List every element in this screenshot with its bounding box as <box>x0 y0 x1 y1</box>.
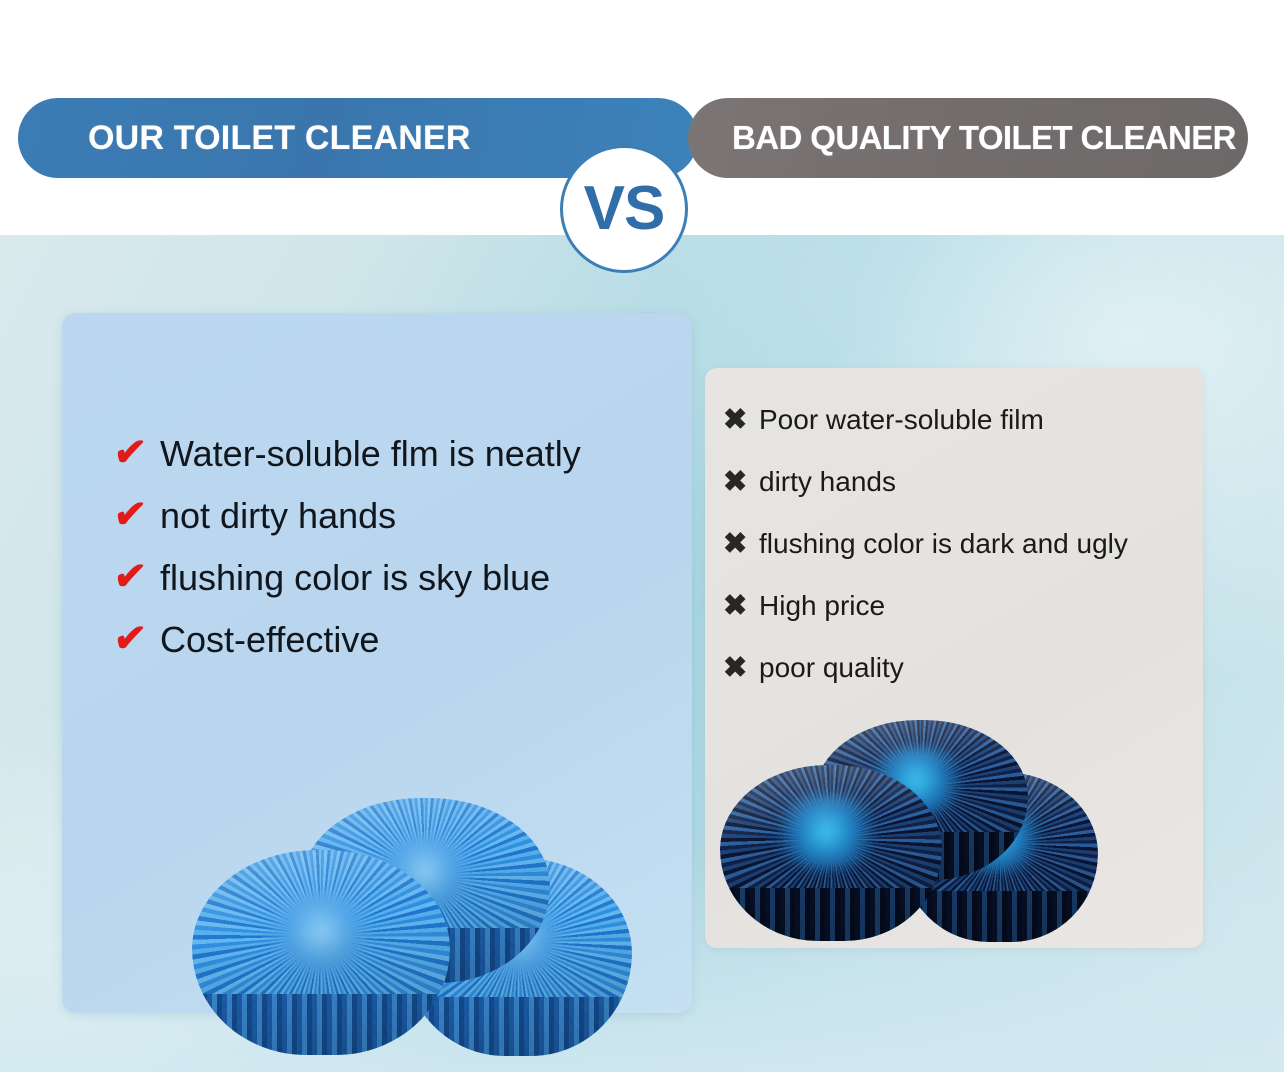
cross-icon: ✖ <box>723 462 759 502</box>
list-item: ✔ Cost-effective <box>114 617 674 679</box>
bad-feature-label: poor quality <box>759 648 904 688</box>
list-item: ✖ High price <box>723 586 1193 648</box>
bad-feature-label: Poor water-soluble film <box>759 400 1044 440</box>
bad-product-banner-label: BAD QUALITY TOILET CLEANER <box>732 119 1236 157</box>
check-icon: ✔ <box>112 431 163 475</box>
banner-row: OUR TOILET CLEANER BAD QUALITY TOILET CL… <box>18 98 1248 178</box>
header-banner: OUR TOILET CLEANER BAD QUALITY TOILET CL… <box>0 0 1284 235</box>
check-icon: ✔ <box>112 617 163 661</box>
vs-badge-label: VS <box>584 178 665 240</box>
list-item: ✖ poor quality <box>723 648 1193 710</box>
good-product-banner-label: OUR TOILET CLEANER <box>88 119 471 158</box>
good-feature-label: flushing color is sky blue <box>160 555 550 601</box>
list-item: ✔ Water-soluble flm is neatly <box>114 431 674 493</box>
list-item: ✖ Poor water-soluble film <box>723 400 1193 462</box>
check-icon: ✔ <box>112 555 163 599</box>
bad-product-image <box>720 720 1100 950</box>
bad-feature-label: flushing color is dark and ugly <box>759 524 1128 564</box>
cross-icon: ✖ <box>723 524 759 564</box>
good-feature-label: Water-soluble flm is neatly <box>160 431 581 477</box>
list-item: ✖ dirty hands <box>723 462 1193 524</box>
bad-product-panel: ✖ Poor water-soluble film ✖ dirty hands … <box>705 368 1203 948</box>
list-item: ✔ not dirty hands <box>114 493 674 555</box>
good-product-image <box>192 798 632 1068</box>
list-item: ✖ flushing color is dark and ugly <box>723 524 1193 586</box>
comparison-infographic: OUR TOILET CLEANER BAD QUALITY TOILET CL… <box>0 0 1284 1072</box>
comparison-body: ✔ Water-soluble flm is neatly ✔ not dirt… <box>0 235 1284 1072</box>
bad-feature-label: dirty hands <box>759 462 896 502</box>
cross-icon: ✖ <box>723 648 759 688</box>
good-feature-label: not dirty hands <box>160 493 396 539</box>
bad-feature-label: High price <box>759 586 885 626</box>
good-product-panel: ✔ Water-soluble flm is neatly ✔ not dirt… <box>62 313 692 1013</box>
cross-icon: ✖ <box>723 586 759 626</box>
cleaner-tablet-disc <box>192 850 450 1055</box>
cleaner-tablet-disc <box>720 765 942 941</box>
cross-icon: ✖ <box>723 400 759 440</box>
bad-feature-list: ✖ Poor water-soluble film ✖ dirty hands … <box>723 400 1193 710</box>
bad-product-banner: BAD QUALITY TOILET CLEANER <box>688 98 1248 178</box>
vs-badge: VS <box>560 145 688 273</box>
good-feature-label: Cost-effective <box>160 617 379 663</box>
check-icon: ✔ <box>112 493 163 537</box>
list-item: ✔ flushing color is sky blue <box>114 555 674 617</box>
good-feature-list: ✔ Water-soluble flm is neatly ✔ not dirt… <box>114 431 674 679</box>
